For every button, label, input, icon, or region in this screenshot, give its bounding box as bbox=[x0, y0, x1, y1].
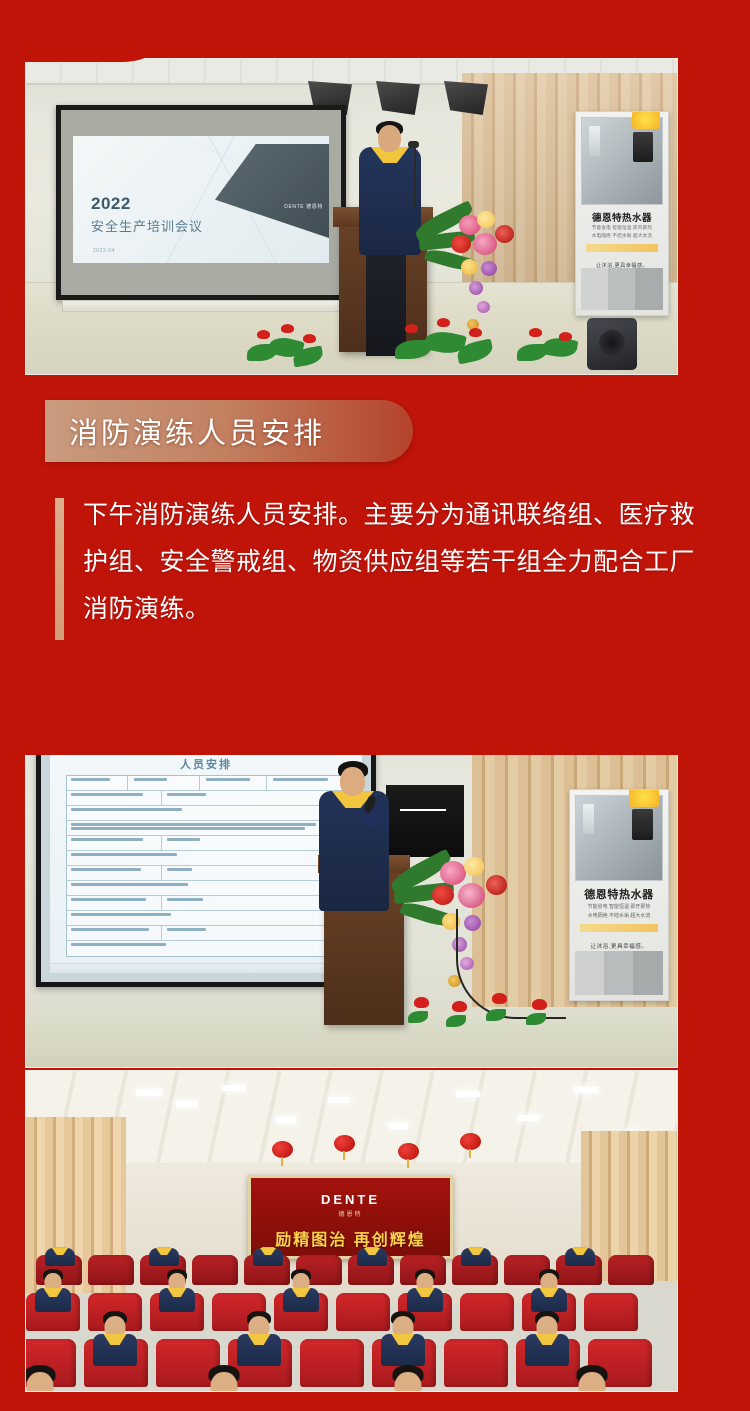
ceiling-speaker-icon bbox=[376, 81, 420, 115]
photo2-red-corner-overlay bbox=[25, 658, 678, 755]
ceiling-speaker-icon bbox=[444, 81, 488, 115]
section-title-banner: 消防演练人员安排 bbox=[45, 400, 413, 462]
top-left-red-corner bbox=[0, 0, 185, 62]
lantern-icon bbox=[334, 1135, 355, 1152]
lantern-icon bbox=[398, 1143, 419, 1160]
speaker-head bbox=[378, 125, 401, 152]
standee-highlight-bar bbox=[586, 244, 658, 252]
standee-logo-icon bbox=[629, 789, 659, 807]
lantern-icon bbox=[460, 1133, 481, 1150]
standee-highlight-bar bbox=[580, 924, 658, 932]
stage-banner-brand-cn: 德恩特 bbox=[251, 1209, 450, 1218]
standee-logo-icon bbox=[632, 111, 660, 129]
audience-seating-photo: DENTE 德恩特 励精图治 再创辉煌 bbox=[25, 1070, 678, 1392]
standee-headline: 德恩特热水器 bbox=[576, 210, 668, 224]
standee-features-1: 节能省电 智能恒温 即开即热 bbox=[570, 903, 668, 910]
presenter-head bbox=[340, 767, 365, 796]
anthurium-plants bbox=[402, 989, 582, 1037]
document-slide: 人员安排 bbox=[50, 739, 362, 973]
personnel-table bbox=[66, 775, 346, 957]
standee-photo-strip bbox=[581, 268, 663, 310]
standee-headline: 德恩特热水器 bbox=[570, 886, 668, 902]
standee-photo-strip bbox=[575, 951, 663, 995]
document-title: 人员安排 bbox=[50, 756, 362, 772]
product-standee: 德恩特热水器 节能省电 智能恒温 即开即热 水电隔绝 不结水垢 超大水流 让沐浴… bbox=[575, 111, 669, 316]
training-meeting-photo: DENTE 德恩特 2022 安全生产培训会议 2022-04 bbox=[25, 58, 678, 375]
section-title-text: 消防演练人员安排 bbox=[69, 410, 325, 452]
product-standee: 德恩特热水器 节能省电 智能恒温 即开即热 水电隔绝 不结水垢 超大水流 让沐浴… bbox=[569, 789, 669, 1001]
audience-seating bbox=[26, 1247, 677, 1391]
slide-year: 2022 bbox=[91, 194, 131, 214]
projection-screen: DENTE 德恩特 2022 安全生产培训会议 2022-04 bbox=[56, 105, 346, 300]
presentation-slide: DENTE 德恩特 2022 安全生产培训会议 2022-04 bbox=[73, 136, 329, 263]
potted-plants bbox=[221, 316, 562, 374]
microphone-icon bbox=[408, 141, 419, 148]
standee-product-photo bbox=[581, 117, 663, 205]
standee-tagline: 让沐浴,更具幸福感。 bbox=[570, 942, 668, 950]
slide-title: 安全生产培训会议 bbox=[91, 216, 203, 235]
slide-date: 2022-04 bbox=[93, 248, 115, 254]
slide-brand-label: DENTE 德恩特 bbox=[284, 203, 323, 210]
wall-skirting bbox=[62, 300, 347, 312]
backdrop-panel bbox=[386, 785, 464, 857]
document-statusbar bbox=[50, 963, 362, 973]
microphone-stand bbox=[414, 145, 416, 207]
standee-features-1: 节能省电 智能恒温 即开即热 bbox=[576, 225, 668, 231]
poster-page: DENTE 德恩特 2022 安全生产培训会议 2022-04 bbox=[0, 0, 750, 1411]
floor-speaker bbox=[587, 318, 637, 370]
speaker-body bbox=[359, 147, 421, 255]
standee-features-2: 水电隔绝 不结水垢 超大水流 bbox=[576, 233, 668, 239]
lantern-icon bbox=[272, 1141, 293, 1158]
standee-product-photo bbox=[575, 795, 663, 881]
standee-features-2: 水电隔绝 不结水垢 超大水流 bbox=[570, 912, 668, 919]
section-body-text: 下午消防演练人员安排。主要分为通讯联络组、医疗救护组、安全警戒组、物资供应组等若… bbox=[83, 492, 703, 633]
stage-banner-brand: DENTE bbox=[251, 1192, 450, 1207]
